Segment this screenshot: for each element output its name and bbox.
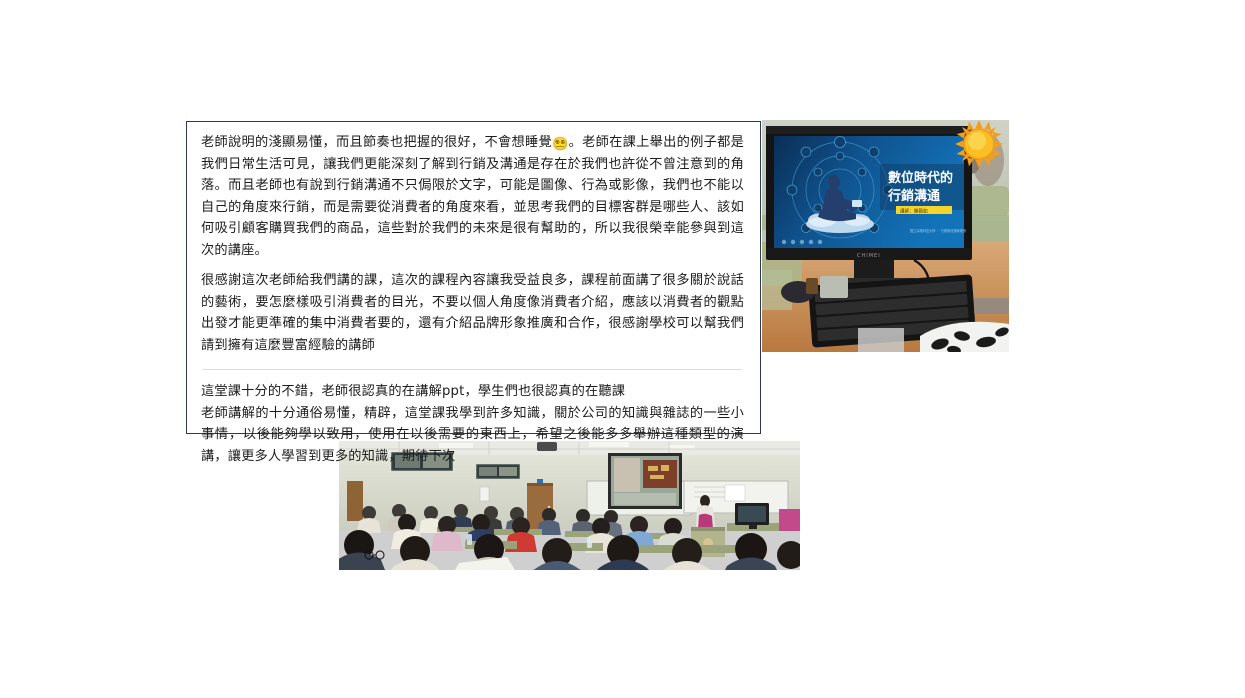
feedback-entry-3-group: 這堂課十分的不錯，老師很認真的在講解ppt，學生們也很認真的在聽課 老師講解的十… bbox=[201, 381, 744, 467]
feedback-entry-2: 很感謝這次老師給我們講的課，這次的課程內容讓我受益良多，課程前面講了很多關於說話… bbox=[201, 270, 744, 356]
feedback-entry-3-line-1: 這堂課十分的不錯，老師很認真的在講解ppt，學生們也很認真的在聽課 bbox=[201, 381, 744, 403]
svg-text:CHIMEI: CHIMEI bbox=[857, 253, 881, 259]
dizzy-face-emoji: 😵‍💫 bbox=[552, 138, 568, 151]
svg-text:行銷溝通: 行銷溝通 bbox=[887, 188, 940, 204]
feedback-entry-3-line-2: 老師講解的十分通俗易懂，精辟，這堂課我學到許多知識，關於公司的知識與雜誌的一些小… bbox=[201, 403, 744, 468]
photo-monitor-presentation: 數位時代的 行銷溝通 講師：陳薇如 國立高雄科技大學 ・ 行銷與流通管理系 CH… bbox=[762, 120, 1009, 352]
feedback-entry-1-text: 老師說明的淺顯易懂，而且節奏也把握的很好，不會想睡覺 bbox=[201, 135, 552, 150]
feedback-entry-1: 老師說明的淺顯易懂，而且節奏也把握的很好，不會想睡覺😵‍💫。老師在課上舉出的例子… bbox=[201, 132, 744, 261]
monitor-photo-graphic: 數位時代的 行銷溝通 講師：陳薇如 國立高雄科技大學 ・ 行銷與流通管理系 CH… bbox=[762, 120, 1009, 352]
feedback-entry-1-text-after: 。老師在課上舉出的例子都是我們日常生活可見，讓我們更能深刻了解到行銷及溝通是存在… bbox=[201, 135, 744, 258]
svg-text:數位時代的: 數位時代的 bbox=[888, 170, 953, 186]
svg-text:國立高雄科技大學 ・ 行銷與流通管理系: 國立高雄科技大學 ・ 行銷與流通管理系 bbox=[910, 228, 966, 233]
feedback-comment-card: 老師說明的淺顯易懂，而且節奏也把握的很好，不會想睡覺😵‍💫。老師在課上舉出的例子… bbox=[186, 121, 761, 434]
svg-text:講師：陳薇如: 講師：陳薇如 bbox=[900, 208, 928, 215]
feedback-divider bbox=[203, 369, 742, 370]
